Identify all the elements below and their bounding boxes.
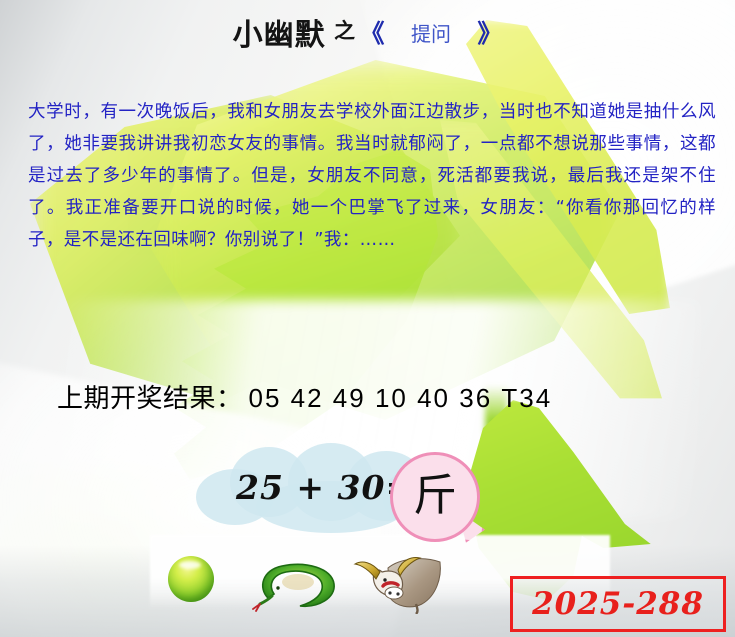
green-sphere-icon bbox=[168, 556, 214, 602]
sphere-highlight bbox=[179, 561, 201, 569]
issue-number-badge: 2025-288 bbox=[510, 576, 726, 632]
ox-icon bbox=[352, 552, 444, 614]
bracket-open-icon: 《 bbox=[359, 19, 384, 48]
poster-canvas: 小幽默 之 《 提问 》 大学时，有一次晚饭后，我和女朋友去学校外面江边散步，当… bbox=[0, 0, 735, 637]
draw-result-numbers: 05 42 49 10 40 36 T34 bbox=[249, 383, 553, 413]
issue-number-text: 2025-288 bbox=[532, 586, 704, 622]
previous-draw-result: 上期开奖结果：05 42 49 10 40 36 T34 bbox=[57, 378, 552, 415]
riddle-answer-bubble: 斤 bbox=[390, 452, 480, 542]
title-zhi-text: 之 bbox=[334, 19, 355, 43]
page-title: 小幽默 之 《 提问 》 bbox=[0, 10, 735, 54]
riddle-formula: 25 + 30= bbox=[236, 468, 414, 507]
draw-result-label: 上期开奖结果： bbox=[57, 384, 243, 414]
title-main-text: 小幽默 bbox=[233, 18, 326, 53]
bracket-close-icon: 》 bbox=[477, 19, 502, 48]
riddle-answer-text: 斤 bbox=[413, 474, 457, 518]
title-subtitle: 提问 bbox=[411, 22, 451, 46]
story-paragraph: 大学时，有一次晚饭后，我和女朋友去学校外面江边散步，当时也不知道她是抽什么风了，… bbox=[28, 96, 716, 256]
snake-icon bbox=[248, 558, 344, 614]
